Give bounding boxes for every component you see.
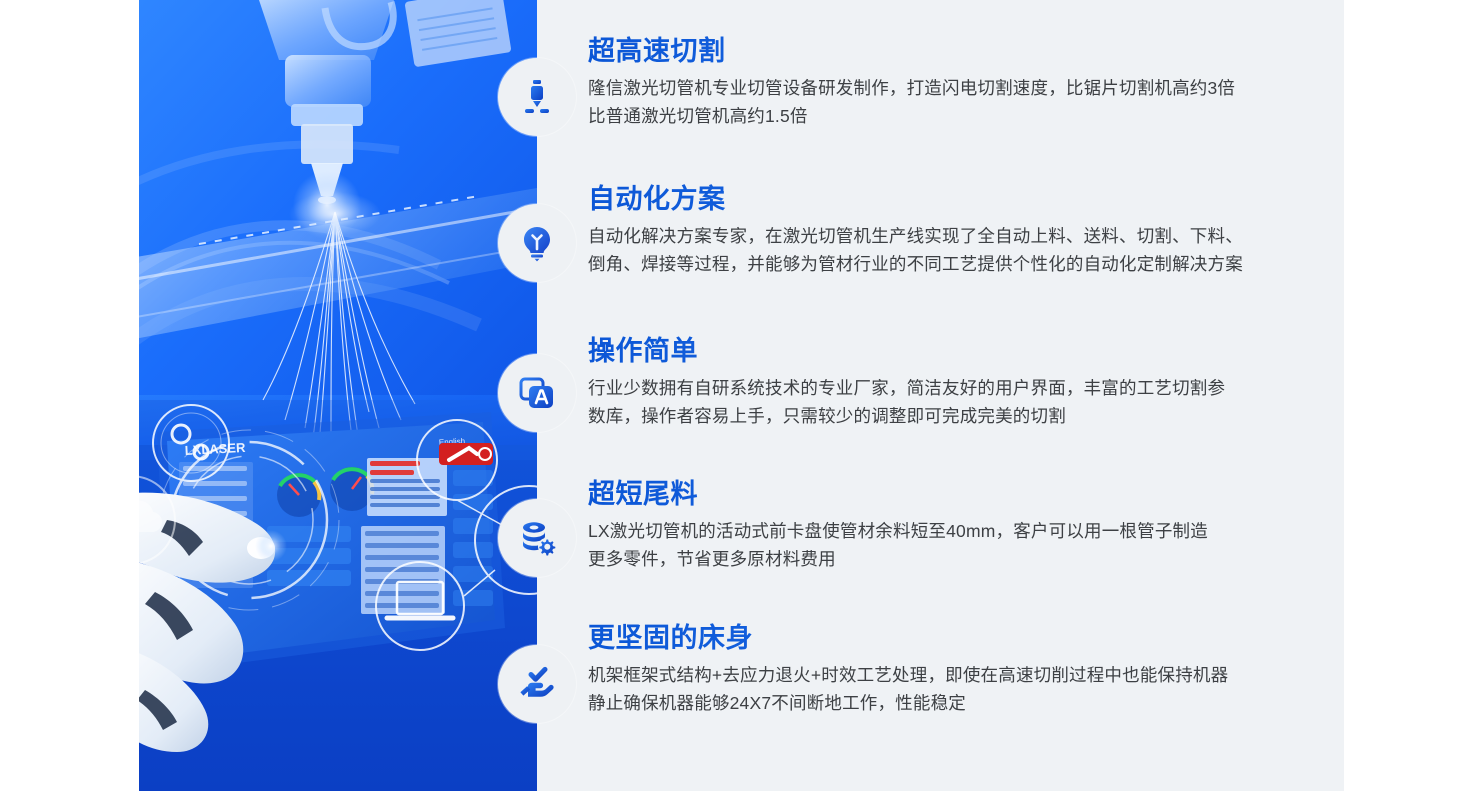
feature-description: 机架框架式结构+去应力退火+时效工艺处理，即使在高速切削过程中也能保持机器 静止…	[588, 661, 1308, 718]
feature-title: 操作简单	[588, 336, 1308, 368]
page-stage: LXLASER English	[0, 0, 1480, 791]
feature-description: 自动化解决方案专家，在激光切管机生产线实现了全自动上料、送料、切割、下料、 倒角…	[588, 222, 1308, 279]
letter-a-card-icon	[498, 354, 576, 432]
letter-a-card-glyph	[517, 373, 557, 413]
feature-title: 自动化方案	[588, 184, 1308, 216]
feature-text: 操作简单 行业少数拥有自研系统技术的专业厂家，简洁友好的用户界面，丰富的工艺切割…	[588, 336, 1308, 431]
feature-row: 自动化方案 自动化解决方案专家，在激光切管机生产线实现了全自动上料、送料、切割、…	[139, 168, 1344, 318]
features-list: 超高速切割 隆信激光切管机专业切管设备研发制作，打造闪电切割速度，比锯片切割机高…	[139, 0, 1344, 791]
hand-check-icon	[498, 645, 576, 723]
feature-row: 操作简单 行业少数拥有自研系统技术的专业厂家，简洁友好的用户界面，丰富的工艺切割…	[139, 318, 1344, 468]
lightbulb-glyph	[517, 223, 557, 263]
feature-title: 超高速切割	[588, 36, 1308, 68]
feature-text: 超短尾料 LX激光切管机的活动式前卡盘使管材余料短至40mm，客户可以用一根管子…	[588, 479, 1308, 574]
feature-row: 超短尾料 LX激光切管机的活动式前卡盘使管材余料短至40mm，客户可以用一根管子…	[139, 463, 1344, 613]
feature-row: 超高速切割 隆信激光切管机专业切管设备研发制作，打造闪电切割速度，比锯片切割机高…	[139, 22, 1344, 172]
feature-text: 超高速切割 隆信激光切管机专业切管设备研发制作，打造闪电切割速度，比锯片切割机高…	[588, 36, 1308, 131]
laser-cutting-head-icon	[498, 58, 576, 136]
database-gear-glyph	[517, 518, 557, 558]
feature-title: 超短尾料	[588, 479, 1308, 511]
database-gear-icon	[498, 499, 576, 577]
laser-cutting-head-glyph	[517, 77, 557, 117]
feature-text: 自动化方案 自动化解决方案专家，在激光切管机生产线实现了全自动上料、送料、切割、…	[588, 184, 1308, 279]
feature-description: 隆信激光切管机专业切管设备研发制作，打造闪电切割速度，比锯片切割机高约3倍 比普…	[588, 74, 1308, 131]
feature-text: 更坚固的床身 机架框架式结构+去应力退火+时效工艺处理，即使在高速切削过程中也能…	[588, 623, 1308, 718]
feature-description: 行业少数拥有自研系统技术的专业厂家，简洁友好的用户界面，丰富的工艺切割参 数库，…	[588, 374, 1308, 431]
feature-description: LX激光切管机的活动式前卡盘使管材余料短至40mm，客户可以用一根管子制造 更多…	[588, 517, 1308, 574]
hand-check-glyph	[517, 664, 557, 704]
feature-row: 更坚固的床身 机架框架式结构+去应力退火+时效工艺处理，即使在高速切削过程中也能…	[139, 609, 1344, 759]
lightbulb-icon	[498, 204, 576, 282]
feature-title: 更坚固的床身	[588, 623, 1308, 655]
